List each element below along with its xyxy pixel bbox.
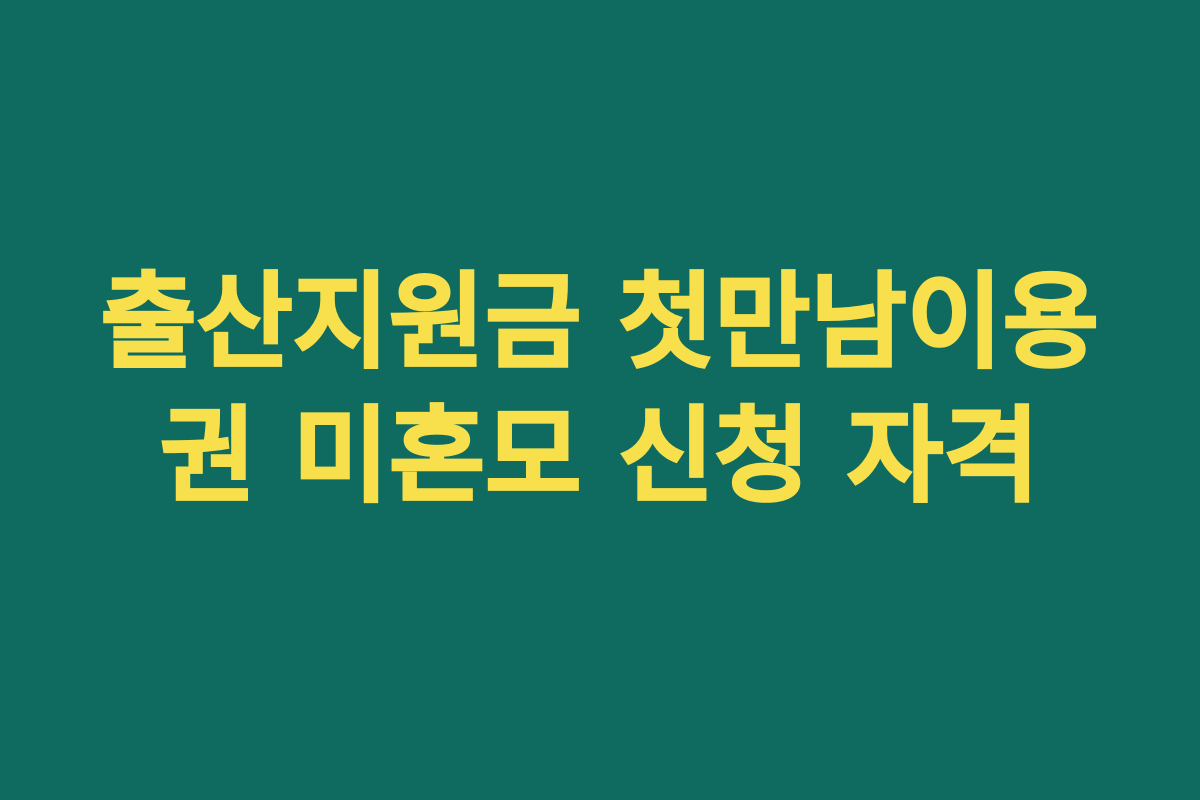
title-card-canvas: 출산지원금 첫만남이용 권 미혼모 신청 자격 (0, 0, 1200, 800)
title-line-1: 출산지원금 첫만남이용 (95, 255, 1105, 389)
page-title: 출산지원금 첫만남이용 권 미혼모 신청 자격 (95, 255, 1105, 523)
title-line-2: 권 미혼모 신청 자격 (95, 389, 1105, 523)
